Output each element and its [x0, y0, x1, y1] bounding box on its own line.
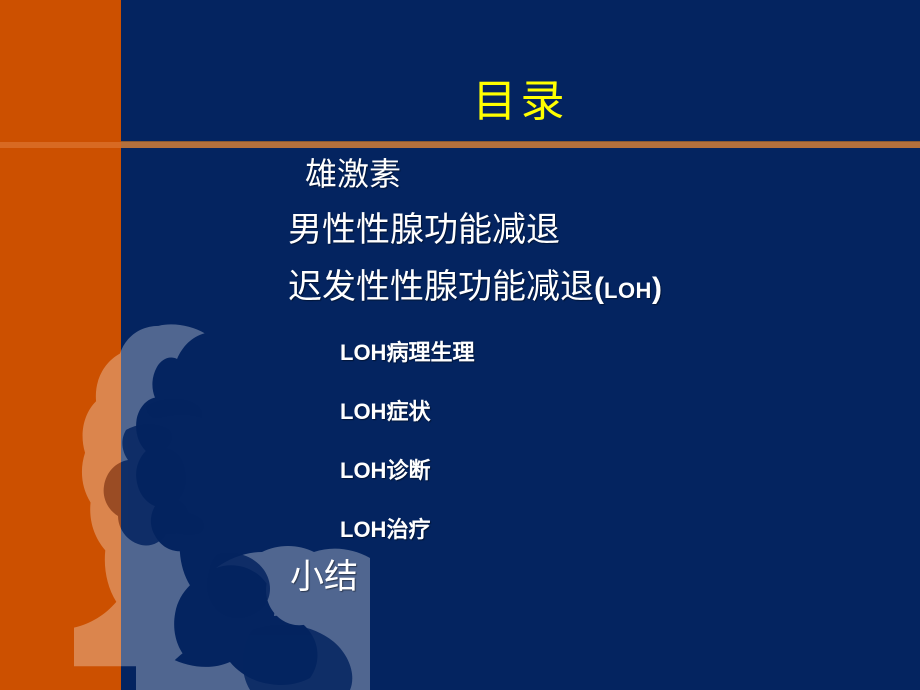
- outline-subitem-loh-treatment: LOH治疗: [340, 517, 430, 543]
- outline-item-loh: 迟发性性腺功能减退(LOH): [288, 268, 662, 311]
- outline-item-summary: 小结: [290, 558, 358, 598]
- presentation-slide: 目录 雄激素 男性性腺功能减退 迟发性性腺功能减退(LOH) LOH病理生理 L…: [0, 0, 920, 690]
- outline-subitem-loh-pathophysiology: LOH病理生理: [340, 340, 474, 366]
- paren-open: (: [594, 272, 604, 305]
- paren-close: ): [652, 272, 662, 305]
- outline-subitem-loh-diagnosis: LOH诊断: [340, 458, 430, 484]
- outline-subitem-loh-symptoms: LOH症状: [340, 399, 430, 425]
- outline-item-male-hypogonadism: 男性性腺功能减退: [288, 211, 560, 251]
- page-title: 目录: [121, 76, 920, 128]
- outline-item-androgen: 雄激素: [305, 154, 401, 194]
- loh-abbreviation: LOH: [604, 278, 652, 303]
- outline-item-loh-label: 迟发性性腺功能减退: [288, 269, 594, 306]
- slide-content: 目录 雄激素 男性性腺功能减退 迟发性性腺功能减退(LOH) LOH病理生理 L…: [0, 0, 920, 690]
